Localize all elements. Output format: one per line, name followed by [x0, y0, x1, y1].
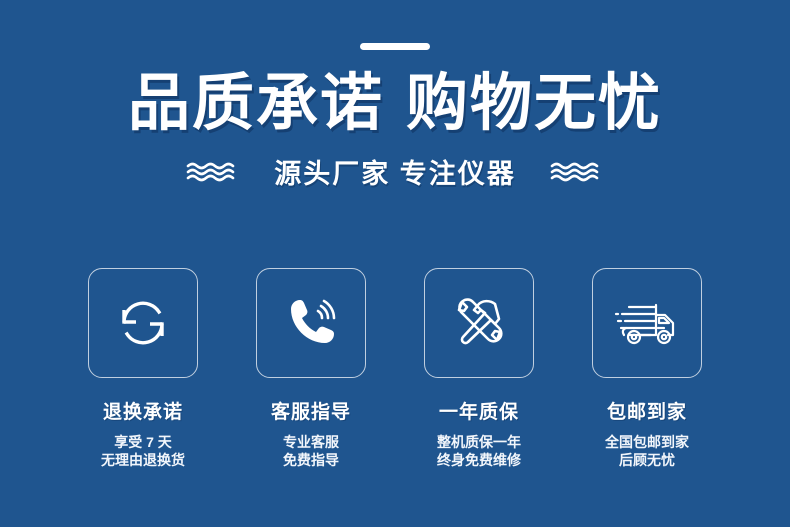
- card-desc-line1: 全国包邮到家: [605, 434, 689, 450]
- card-description: 专业客服 免费指导: [283, 433, 339, 469]
- promo-banner: 品质承诺购物无忧 源头厂家 专注仪器: [0, 0, 790, 527]
- service-cards: 退换承诺 享受 7 天 无理由退换货 客服指导 专业客服: [0, 268, 790, 469]
- wave-icon: [550, 161, 604, 183]
- page-subtitle: 源头厂家 专注仪器: [274, 152, 516, 191]
- service-card-shipping[interactable]: 包邮到家 全国包邮到家 后顾无忧: [592, 268, 702, 469]
- delivery-truck-icon: [612, 297, 682, 349]
- exchange-refresh-icon: [112, 292, 174, 354]
- card-desc-line2: 终身免费维修: [437, 451, 521, 469]
- icon-box: [88, 268, 198, 378]
- card-desc-line2: 无理由退换货: [101, 451, 185, 469]
- card-desc-line1: 专业客服: [283, 434, 339, 450]
- page-title: 品质承诺购物无忧: [0, 68, 790, 140]
- card-description: 整机质保一年 终身免费维修: [437, 433, 521, 469]
- card-title: 退换承诺: [103, 397, 183, 424]
- service-card-warranty[interactable]: 一年质保 整机质保一年 终身免费维修: [424, 268, 534, 469]
- page-title-part2: 购物无忧: [406, 69, 662, 138]
- subtitle-row: 源头厂家 专注仪器: [0, 152, 790, 191]
- card-description: 全国包邮到家 后顾无忧: [605, 433, 689, 469]
- wave-icon: [186, 161, 240, 183]
- service-card-exchange[interactable]: 退换承诺 享受 7 天 无理由退换货: [88, 268, 198, 469]
- icon-box: [256, 268, 366, 378]
- icon-box: [592, 268, 702, 378]
- page-title-part1: 品质承诺: [128, 69, 384, 138]
- icon-box: [424, 268, 534, 378]
- card-description: 享受 7 天 无理由退换货: [101, 433, 185, 469]
- card-desc-line1: 整机质保一年: [437, 434, 521, 450]
- hammer-wrench-tools-icon: [448, 292, 510, 354]
- card-desc-line2: 免费指导: [283, 451, 339, 469]
- card-title: 客服指导: [271, 397, 351, 424]
- card-title: 包邮到家: [607, 397, 687, 424]
- service-card-support[interactable]: 客服指导 专业客服 免费指导: [256, 268, 366, 469]
- phone-call-icon: [280, 292, 342, 354]
- card-desc-line1: 享受 7 天: [114, 434, 172, 450]
- card-title: 一年质保: [439, 397, 519, 424]
- top-divider-bar: [360, 43, 430, 50]
- card-desc-line2: 后顾无忧: [605, 451, 689, 469]
